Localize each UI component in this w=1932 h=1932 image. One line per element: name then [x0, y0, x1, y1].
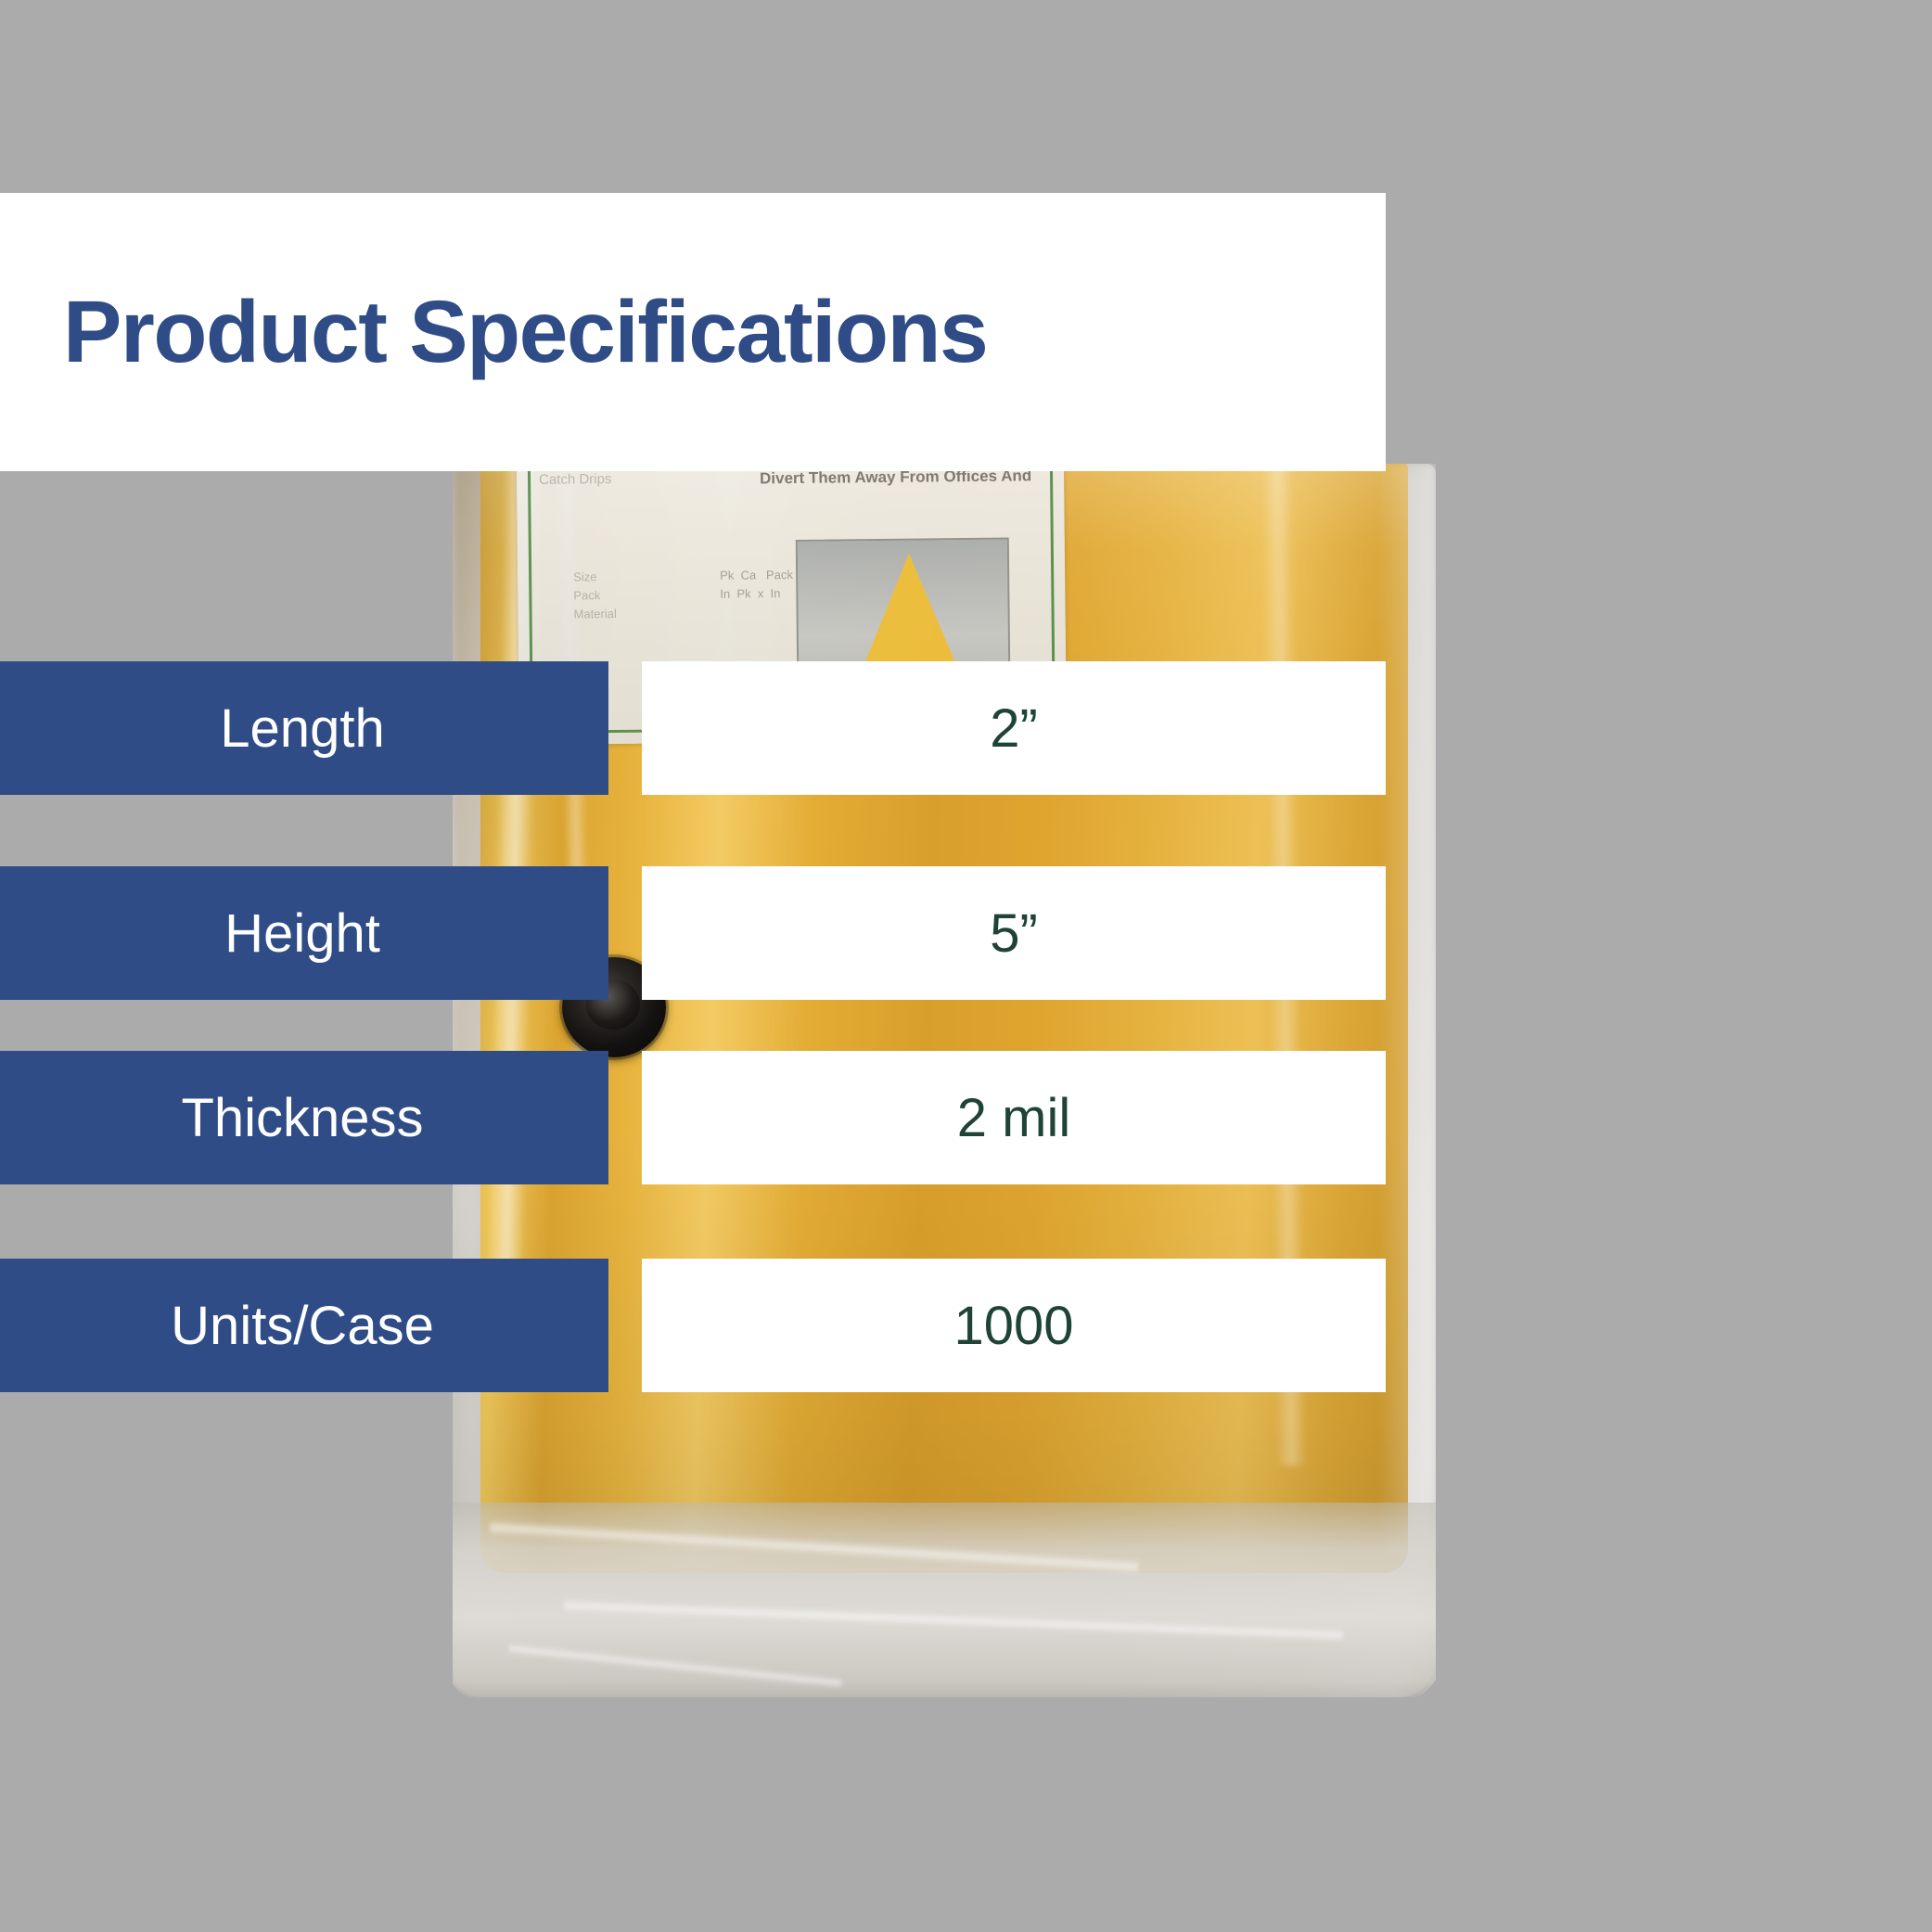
label-fine-print-right: Pk Ca Pack In Pk x In — [720, 566, 793, 604]
spec-label-text: Thickness — [181, 1087, 423, 1149]
label-subline: Catch Drips — [539, 471, 612, 488]
spec-row-units-per-case: Units/Case 1000 — [0, 1259, 1386, 1392]
spec-label-cell: Height — [0, 866, 608, 1000]
spec-card-canvas: ULTRA-DRIP DIVERTER Divert Them Away Fro… — [0, 0, 1932, 1932]
spec-row-length: Length 2” — [0, 661, 1386, 795]
spec-label-text: Units/Case — [171, 1295, 434, 1357]
spec-value-text: 2” — [990, 697, 1038, 760]
spec-label-text: Height — [224, 902, 380, 965]
spec-label-cell: Thickness — [0, 1051, 608, 1184]
spec-value-cell: 5” — [642, 866, 1386, 1000]
spec-value-cell: 2” — [642, 661, 1386, 795]
label-fine-print-left: Size Pack Material — [573, 568, 617, 623]
spec-value-cell: 1000 — [642, 1259, 1386, 1392]
spec-value-text: 2 mil — [957, 1087, 1070, 1149]
page-title: Product Specifications — [63, 288, 987, 377]
spec-row-height: Height 5” — [0, 866, 1386, 1000]
spec-label-cell: Units/Case — [0, 1259, 608, 1392]
spec-row-thickness: Thickness 2 mil — [0, 1051, 1386, 1184]
spec-label-cell: Length — [0, 661, 608, 795]
bag-right-sheen — [1378, 464, 1436, 1558]
spec-value-text: 5” — [990, 902, 1038, 965]
spec-value-text: 1000 — [953, 1295, 1073, 1357]
spec-value-cell: 2 mil — [642, 1051, 1386, 1184]
title-banner: Product Specifications — [0, 193, 1386, 471]
spec-label-text: Length — [220, 697, 384, 760]
